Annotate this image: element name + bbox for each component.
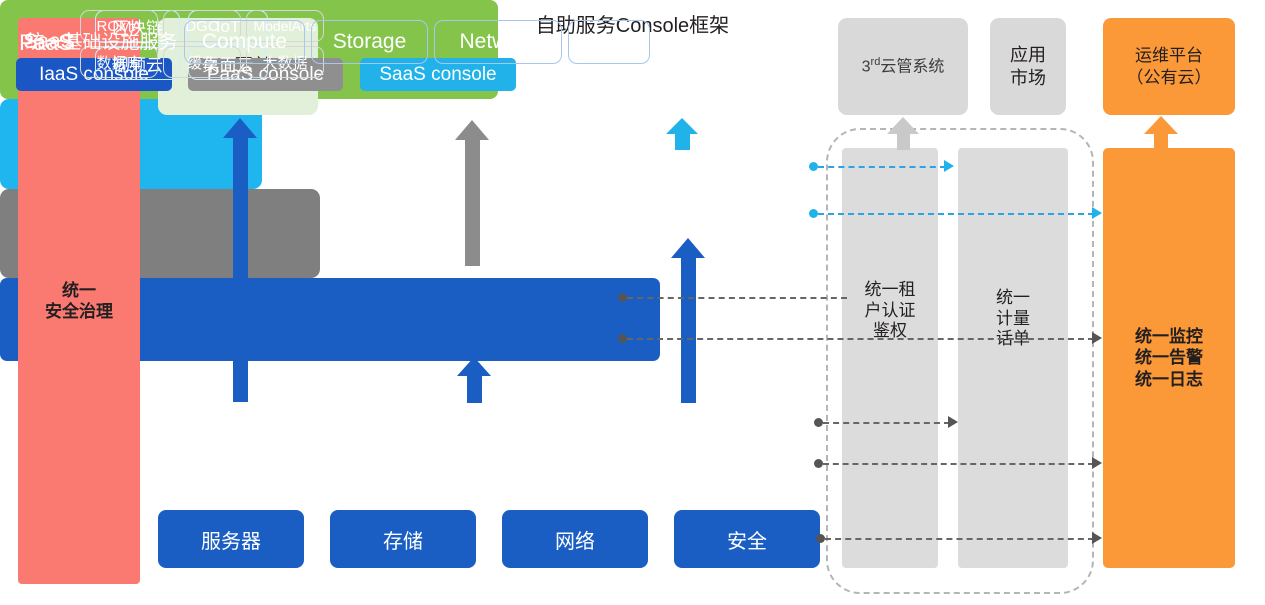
infra-chip-cce: CCE (568, 20, 650, 64)
ops-platform-line-1: 运维平台 (1127, 45, 1212, 66)
app-market-box: 应用 市场 (990, 18, 1066, 115)
security-line-1: 统一 (45, 280, 113, 301)
infrastructure-label: 统一基础设施服务 (14, 27, 189, 54)
ops-body-line-2: 统一告警 (1135, 347, 1203, 368)
auth-column-text: 统一租 户认证 鉴权 (842, 280, 938, 342)
infra-chip-storage: Storage (311, 20, 428, 64)
ops-monitoring-box: 统一监控 统一告警 统一日志 (1103, 148, 1235, 568)
infra-chip-network: Network (434, 20, 562, 64)
auth-line-1: 统一租 (842, 280, 938, 301)
billing-line-2: 计量 (958, 309, 1068, 330)
auth-line-2: 户认证 (842, 301, 938, 322)
app-market-line-2: 市场 (1010, 67, 1046, 90)
billing-column-text: 统一 计量 话单 (958, 288, 1068, 350)
ops-body-line-3: 统一日志 (1135, 369, 1203, 390)
third-party-cloud-mgmt-box: 3rd云管系统 (838, 18, 968, 115)
billing-line-1: 统一 (958, 288, 1068, 309)
app-market-line-1: 应用 (1010, 44, 1046, 67)
unified-billing-column (958, 148, 1068, 568)
unified-tenant-auth-column (842, 148, 938, 568)
unified-security-panel: 统一 安全治理 (18, 18, 140, 584)
ops-platform-box: 运维平台 （公有云） (1103, 18, 1235, 115)
hardware-box-network: 网络 (502, 510, 648, 568)
architecture-diagram: 统一 安全治理 API网关 自助服务Console框架 IaaS console… (0, 0, 1265, 605)
hardware-box-server: 服务器 (158, 510, 304, 568)
infra-chip-compute: Compute (184, 20, 305, 64)
hardware-box-storage: 存储 (330, 510, 476, 568)
ops-body-line-1: 统一监控 (1135, 326, 1203, 347)
ops-platform-line-2: （公有云） (1127, 67, 1212, 88)
third-party-label: 3rd云管系统 (862, 56, 945, 77)
hardware-box-security: 安全 (674, 510, 820, 568)
security-line-2: 安全治理 (45, 301, 113, 322)
